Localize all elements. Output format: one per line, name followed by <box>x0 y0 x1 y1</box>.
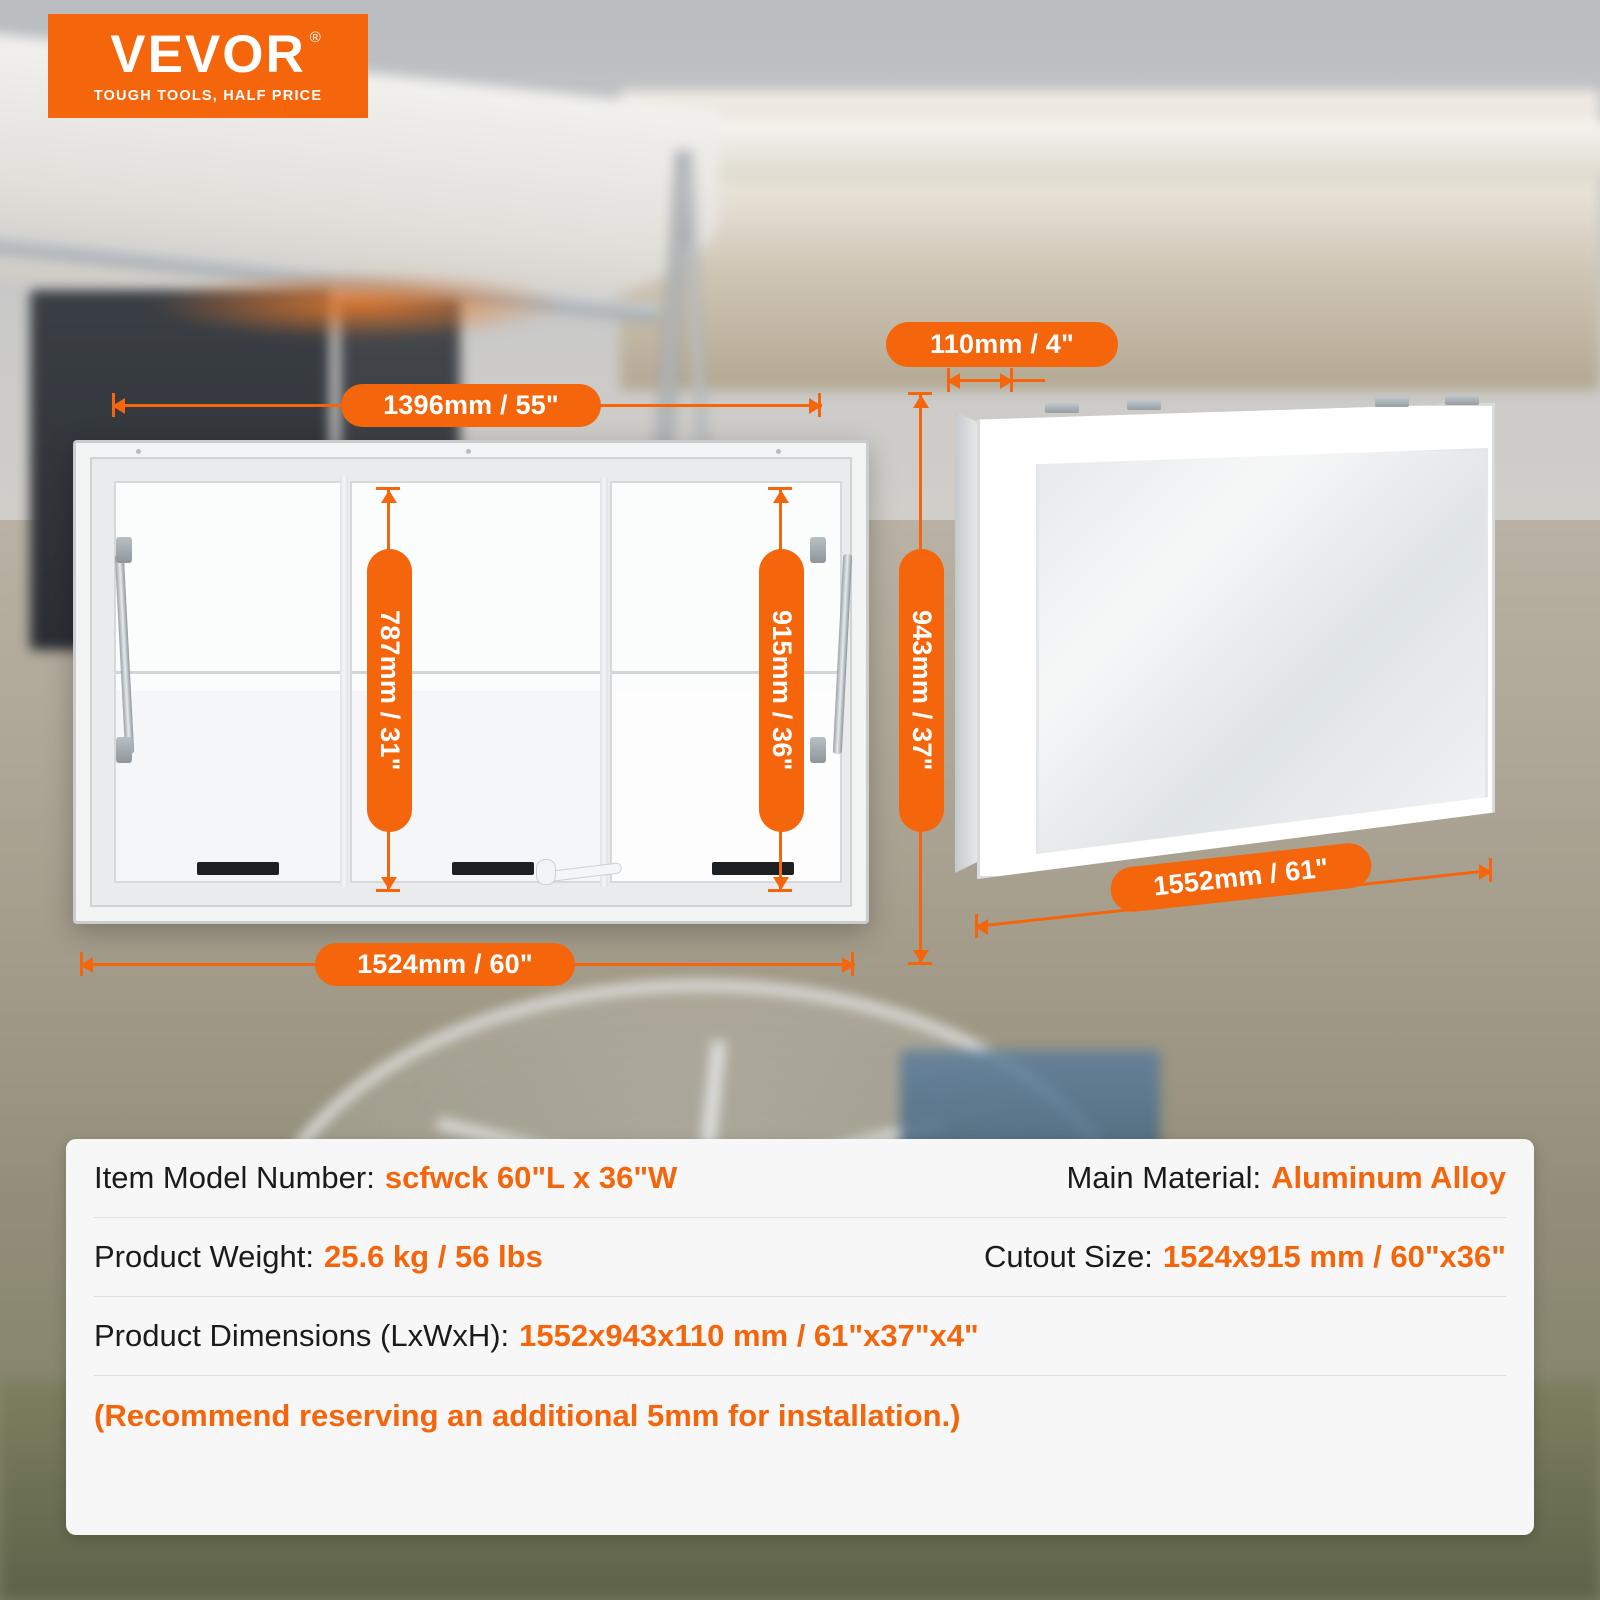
spec-row-note: (Recommend reserving an additional 5mm f… <box>94 1376 1506 1455</box>
window-crank-handle[interactable] <box>542 853 630 887</box>
frame-screw <box>466 449 471 454</box>
sash-handle-center[interactable] <box>452 862 534 875</box>
spec-cell-weight: Product Weight: 25.6 kg / 56 lbs <box>94 1239 772 1275</box>
dim-arrow-left <box>80 957 93 973</box>
window-face <box>977 403 1495 879</box>
spec-label: Item Model Number: <box>94 1160 375 1196</box>
pane-lower-section <box>612 691 840 881</box>
spec-cell-cutout: Cutout Size: 1524x915 mm / 60"x36" <box>772 1239 1506 1275</box>
spec-row-2: Product Weight: 25.6 kg / 56 lbs Cutout … <box>94 1218 1506 1297</box>
awning-glow <box>150 270 570 340</box>
pane-lower-section <box>116 691 344 881</box>
sash-handle-left[interactable] <box>197 862 279 875</box>
dim-arrow-up <box>773 490 789 503</box>
window-mullion-right <box>600 477 608 887</box>
spec-value: Aluminum Alloy <box>1271 1160 1506 1196</box>
spec-value: 1552x943x110 mm / 61"x37"x4" <box>519 1318 979 1354</box>
dim-label-cutout-height: 915mm / 36" <box>759 549 804 832</box>
spec-label: Main Material: <box>1066 1160 1261 1196</box>
spec-cell-dimensions: Product Dimensions (LxWxH): 1552x943x110… <box>94 1318 979 1354</box>
dim-label-glass-height: 787mm / 31" <box>367 549 412 832</box>
spec-row-3: Product Dimensions (LxWxH): 1552x943x110… <box>94 1297 1506 1376</box>
spec-label: Cutout Size: <box>984 1239 1153 1275</box>
spec-value: 1524x915 mm / 60"x36" <box>1163 1239 1506 1275</box>
dim-arrow-up <box>913 395 929 408</box>
hinge-bottom-left <box>116 737 132 763</box>
angled-window-frame <box>955 395 1495 935</box>
hinge-bottom-right <box>810 737 826 763</box>
dim-arrow-left <box>947 373 960 389</box>
dim-arrow-down <box>913 950 929 963</box>
product-window-angled-view <box>955 395 1495 935</box>
window-inner-frame <box>90 457 852 907</box>
spec-label: Product Dimensions (LxWxH): <box>94 1318 509 1354</box>
installation-note: (Recommend reserving an additional 5mm f… <box>94 1398 960 1434</box>
dim-arrow-up <box>381 490 397 503</box>
spec-row-1: Item Model Number: scfwck 60"L x 36"W Ma… <box>94 1139 1506 1218</box>
hinge-top-2 <box>1127 400 1161 410</box>
vevor-logo: VEVOR® TOUGH TOOLS, HALF PRICE <box>48 14 368 118</box>
window-pane-left <box>114 481 346 883</box>
dim-arrow-left <box>112 398 125 414</box>
hinge-top-left <box>116 537 132 563</box>
dim-label-top-width: 1396mm / 55" <box>341 384 601 427</box>
trailer-roof <box>600 120 1600 180</box>
dim-line <box>947 379 1045 382</box>
crank-knob <box>536 859 556 885</box>
dim-label-depth: 110mm / 4" <box>886 322 1118 367</box>
spec-cell-model: Item Model Number: scfwck 60"L x 36"W <box>94 1160 885 1196</box>
dim-label-bottom-width: 1524mm / 60" <box>315 943 575 986</box>
dim-arrow-right <box>1479 864 1492 880</box>
product-sliding-window-front <box>73 440 869 924</box>
hinge-top-1 <box>1045 403 1079 413</box>
dim-arrow-right <box>809 398 822 414</box>
pane-divider <box>116 671 344 674</box>
dim-label-total-height: 943mm / 37" <box>899 549 944 832</box>
dim-arrow-right <box>842 957 855 973</box>
hinge-top-right <box>810 537 826 563</box>
frame-screw <box>136 449 141 454</box>
pane-divider <box>612 671 840 674</box>
dim-arrow-down <box>773 877 789 890</box>
brand-tagline: TOUGH TOOLS, HALF PRICE <box>94 88 322 104</box>
window-glass <box>1036 448 1488 854</box>
hinge-top-3 <box>1375 397 1409 407</box>
hinge-top-4 <box>1445 395 1479 405</box>
dim-arrow-left <box>975 919 988 935</box>
registered-mark: ® <box>310 30 323 45</box>
spec-cell-material: Main Material: Aluminum Alloy <box>885 1160 1506 1196</box>
dim-arrow-down <box>381 877 397 890</box>
spec-value: 25.6 kg / 56 lbs <box>324 1239 543 1275</box>
spec-table: Item Model Number: scfwck 60"L x 36"W Ma… <box>66 1139 1534 1535</box>
spec-value: scfwck 60"L x 36"W <box>385 1160 677 1196</box>
window-mullion-left <box>340 477 348 887</box>
dim-arrow-right <box>1000 373 1013 389</box>
brand-name: VEVOR® <box>110 28 306 81</box>
spec-label: Product Weight: <box>94 1239 314 1275</box>
frame-screw <box>776 449 781 454</box>
window-pane-right <box>610 481 842 883</box>
